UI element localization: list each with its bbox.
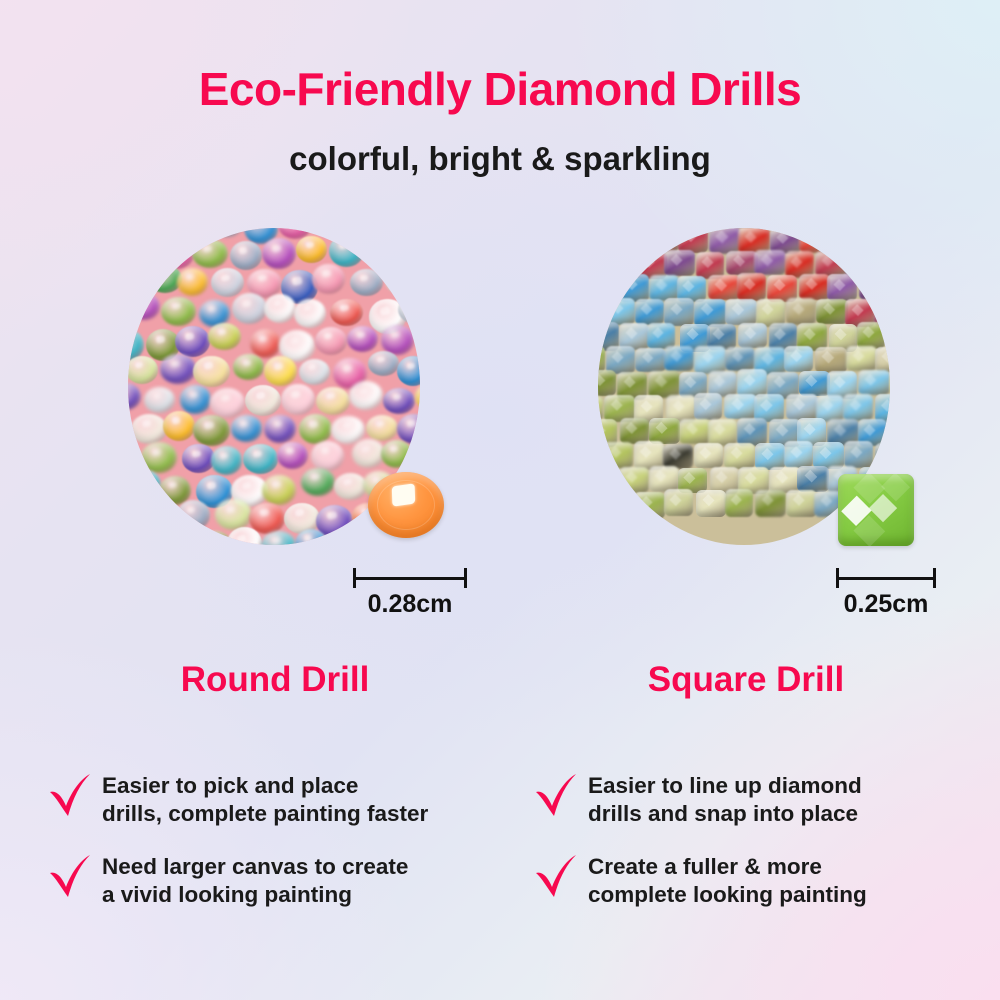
list-item: Easier to pick and place drills, complet… [46, 770, 516, 829]
square-drill-heading: Square Drill [596, 662, 896, 697]
round-drill-measure: 0.28cm [353, 568, 467, 617]
poster-canvas: Eco-Friendly Diamond Drills colorful, br… [0, 0, 1000, 1000]
round-drill-bullets: Easier to pick and place drills, complet… [46, 770, 516, 931]
list-item-text: Easier to line up diamond drills and sna… [588, 770, 862, 829]
list-item: Create a fuller & more complete looking … [532, 851, 994, 910]
check-icon [46, 772, 92, 822]
list-item-text: Create a fuller & more complete looking … [588, 851, 867, 910]
list-item: Easier to line up diamond drills and sna… [532, 770, 994, 829]
page-title: Eco-Friendly Diamond Drills [0, 66, 1000, 112]
list-item: Need larger canvas to create a vivid loo… [46, 851, 516, 910]
page-subtitle: colorful, bright & sparkling [0, 142, 1000, 175]
square-drill-measure: 0.25cm [836, 568, 936, 617]
round-drill-heading: Round Drill [130, 662, 420, 697]
list-item-text: Need larger canvas to create a vivid loo… [102, 851, 408, 910]
round-drill-measure-label: 0.28cm [353, 592, 467, 617]
check-icon [532, 772, 578, 822]
check-icon [46, 853, 92, 903]
square-drill-measure-label: 0.25cm [836, 592, 936, 617]
square-drill-bullets: Easier to line up diamond drills and sna… [532, 770, 994, 931]
measure-bar-square [836, 568, 936, 588]
check-icon [532, 853, 578, 903]
list-item-text: Easier to pick and place drills, complet… [102, 770, 428, 829]
green-square-drill-sample [838, 474, 914, 546]
measure-bar-round [353, 568, 467, 588]
orange-round-drill-sample [368, 472, 444, 538]
